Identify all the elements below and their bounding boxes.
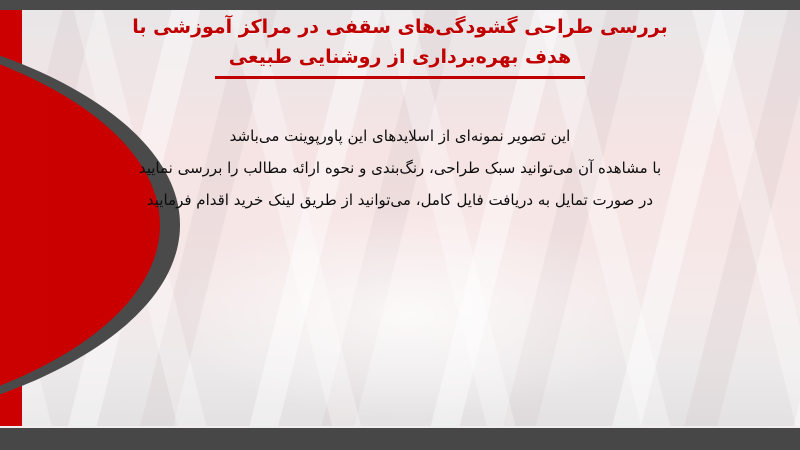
body-line-3: در صورت تمایل به دریافت فایل کامل، می‌تو… bbox=[0, 184, 800, 216]
slide-body: این تصویر نمونه‌ای از اسلایدهای این پاور… bbox=[0, 120, 800, 216]
slide-title-line-2: هدف بهره‌برداری از روشنایی طبیعی bbox=[0, 42, 800, 72]
presentation-slide: بررسی طراحی گشودگی‌های سقفی در مراکز آمو… bbox=[0, 0, 800, 450]
title-underline-rule bbox=[215, 76, 585, 79]
slide-frame-top bbox=[0, 0, 800, 10]
slide-frame-left-top-cap bbox=[0, 0, 22, 10]
body-line-2: با مشاهده آن می‌توانید سبک طراحی، رنگ‌بن… bbox=[0, 152, 800, 184]
slide-frame-left-bottom-cap bbox=[0, 428, 22, 450]
slide-title: بررسی طراحی گشودگی‌های سقفی در مراکز آمو… bbox=[0, 12, 800, 79]
body-line-1: این تصویر نمونه‌ای از اسلایدهای این پاور… bbox=[0, 120, 800, 152]
slide-frame-bottom-highlight bbox=[0, 426, 800, 428]
slide-title-line-1: بررسی طراحی گشودگی‌های سقفی در مراکز آمو… bbox=[0, 12, 800, 42]
slide-frame-bottom bbox=[0, 428, 800, 450]
